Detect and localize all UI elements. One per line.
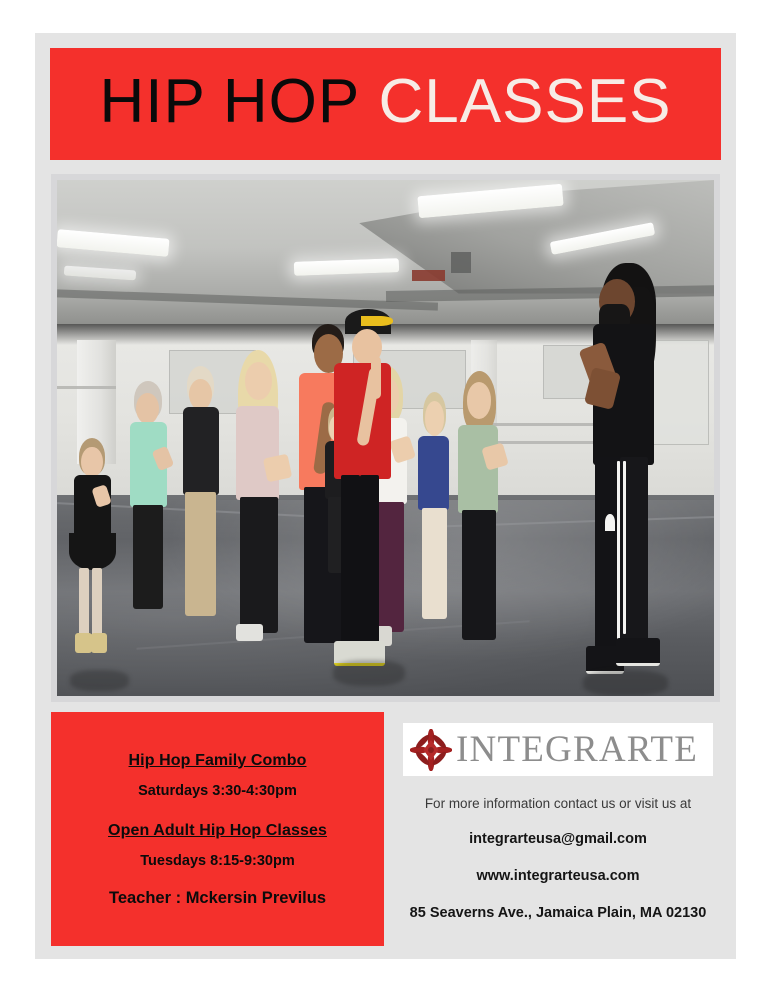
flower-icon xyxy=(410,729,452,771)
floor-reflection xyxy=(583,670,668,696)
torso xyxy=(418,436,448,510)
legs xyxy=(462,510,496,641)
floor-reflection xyxy=(70,670,129,691)
brand-name: INTEGRARTE xyxy=(456,731,698,768)
legs xyxy=(360,475,379,648)
arm xyxy=(262,454,291,482)
arm xyxy=(371,356,381,399)
dancer-khaki xyxy=(175,366,228,624)
contact-lines: For more information contact us or visit… xyxy=(395,796,721,921)
contact-email[interactable]: integrarteusa@gmail.com xyxy=(395,831,721,847)
class-1-time: Saturdays 3:30-4:30pm xyxy=(138,783,297,799)
class-2-time: Tuesdays 8:15-9:30pm xyxy=(140,853,294,869)
dancer-mint xyxy=(123,381,176,618)
class-1-name: Hip Hop Family Combo xyxy=(129,752,307,770)
dancer-blonde xyxy=(228,350,294,644)
dancer-red-cap xyxy=(330,309,409,670)
header-banner: HIP HOP CLASSES xyxy=(50,48,721,160)
brand-logo: INTEGRARTE xyxy=(403,723,713,776)
schedule-block: Hip Hop Family Combo Saturdays 3:30-4:30… xyxy=(51,712,384,946)
legs xyxy=(185,492,217,616)
class-2-name: Open Adult Hip Hop Classes xyxy=(108,822,327,840)
flyer-page: HIP HOP CLASSES xyxy=(35,33,736,959)
page-title: HIP HOP CLASSES xyxy=(99,71,671,137)
legs xyxy=(240,497,278,632)
contact-website[interactable]: www.integrarteusa.com xyxy=(395,868,721,884)
dancer-sage xyxy=(451,371,510,655)
ceiling-beam xyxy=(451,252,471,273)
dancer-child xyxy=(64,438,123,655)
contact-block: INTEGRARTE For more information contact … xyxy=(395,712,721,946)
instructor xyxy=(569,263,674,676)
head xyxy=(136,393,159,424)
shoe xyxy=(91,633,108,653)
teacher-name: Teacher : Mckersin Previlus xyxy=(109,889,326,908)
contact-intro: For more information contact us or visit… xyxy=(395,796,721,811)
head xyxy=(189,379,212,410)
page-title-part1: HIP HOP xyxy=(99,67,360,136)
page-title-part2: CLASSES xyxy=(360,67,671,136)
legs xyxy=(92,568,102,637)
dance-class-photo xyxy=(57,180,714,696)
pant-stripe xyxy=(617,461,620,643)
contact-address: 85 Seaverns Ave., Jamaica Plain, MA 0213… xyxy=(395,905,721,921)
legs xyxy=(79,568,89,637)
head xyxy=(81,447,102,477)
adidas-logo xyxy=(605,514,614,531)
legs xyxy=(133,505,162,609)
legs xyxy=(422,508,447,619)
torso xyxy=(183,407,220,495)
head xyxy=(425,401,444,436)
shoe xyxy=(236,624,264,642)
skirt xyxy=(69,533,115,570)
photo-frame xyxy=(51,174,720,702)
cap-brim xyxy=(361,316,393,327)
legs xyxy=(341,475,360,648)
arm xyxy=(482,442,510,470)
pant-stripe xyxy=(623,461,626,634)
ceiling-vent xyxy=(412,270,445,280)
torso xyxy=(236,406,279,500)
sneaker xyxy=(616,638,660,666)
shoe xyxy=(75,633,92,653)
ballet-barre xyxy=(57,386,116,389)
floor-reflection xyxy=(333,660,405,686)
